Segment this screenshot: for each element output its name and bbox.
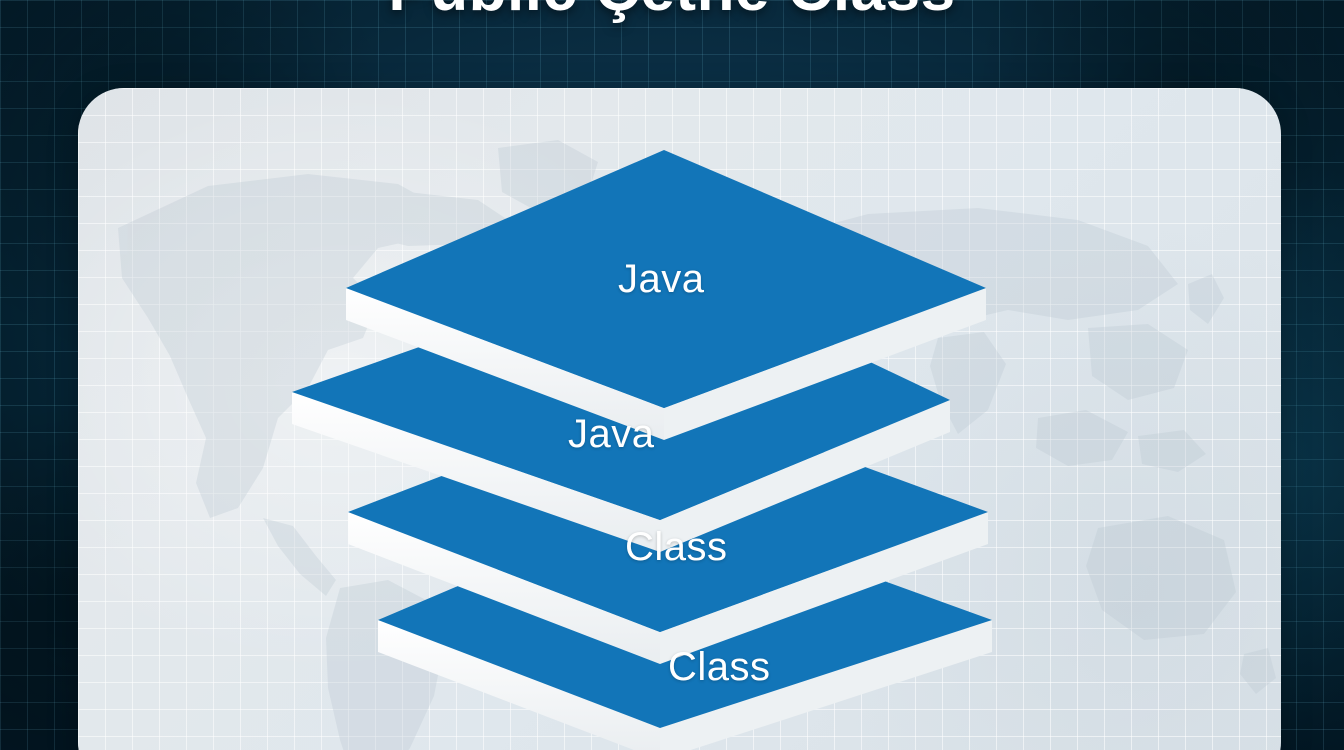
page-title: Public Çetne Class (0, 0, 1344, 25)
slide-canvas: Java Java Class Class Public Çetne Class (0, 0, 1344, 750)
layer-label-3: Class (625, 525, 728, 570)
layer-label-4: Class (668, 645, 771, 690)
layer-stack-diagram: Java Java Class Class (0, 0, 1344, 750)
layer-label-1: Java (618, 257, 705, 302)
layer-label-2: Java (568, 412, 655, 457)
